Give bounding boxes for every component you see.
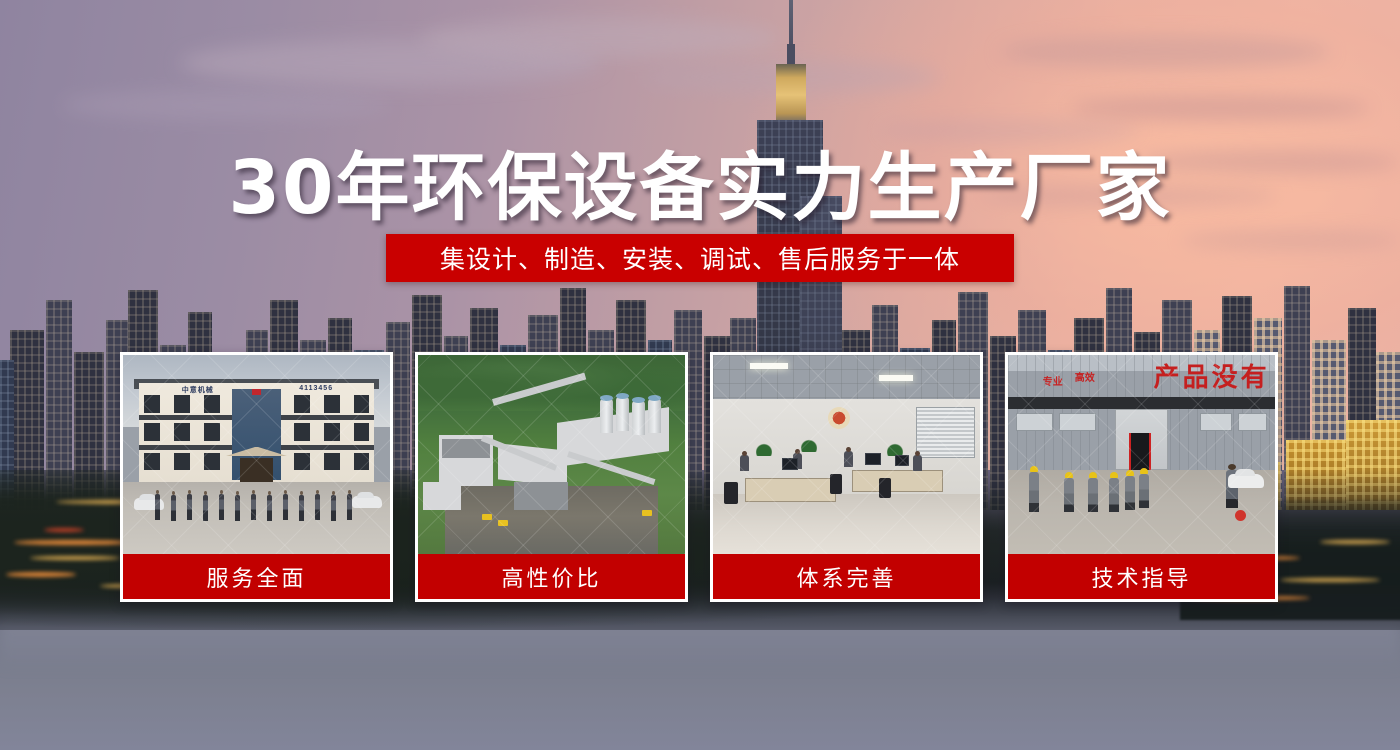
card-photo-office-interior xyxy=(713,355,980,554)
feature-card[interactable]: 产品没有 专业 高效 xyxy=(1005,352,1278,602)
card-photo-workshop-workers: 产品没有 专业 高效 xyxy=(1008,355,1275,554)
wall-emblem xyxy=(828,407,850,429)
card-caption: 体系完善 xyxy=(713,554,980,599)
red-helmet-icon xyxy=(1235,510,1246,521)
card-caption: 技术指导 xyxy=(1008,554,1275,599)
subtitle-text: 集设计、制造、安装、调试、售后服务于一体 xyxy=(440,240,960,276)
page-title: 30年环保设备实力生产厂家 xyxy=(0,128,1400,235)
wall-slogan-large: 产品没有 xyxy=(1154,357,1270,394)
window-blinds xyxy=(916,407,975,459)
building-phone-text: 4113456 xyxy=(299,385,333,392)
building-sign-text: 中意机械 xyxy=(182,385,214,395)
tower-crown xyxy=(776,64,806,126)
wall-slogan-small: 高效 xyxy=(1075,369,1095,384)
feature-card[interactable]: 体系完善 xyxy=(710,352,983,602)
promo-banner: 30年环保设备实力生产厂家 集设计、制造、安装、调试、售后服务于一体 中意机械 xyxy=(0,0,1400,750)
feature-card[interactable]: 中意机械 4113456 服务全面 xyxy=(120,352,393,602)
subtitle-banner: 集设计、制造、安装、调试、售后服务于一体 xyxy=(386,234,1014,282)
card-caption: 服务全面 xyxy=(123,554,390,599)
flag-icon xyxy=(252,389,261,395)
card-photo-office-building: 中意机械 4113456 xyxy=(123,355,390,554)
wall-slogan-small: 专业 xyxy=(1043,373,1063,388)
feature-card-row: 中意机械 4113456 服务全面 xyxy=(120,352,1278,602)
card-photo-aerial-plant xyxy=(418,355,685,554)
feature-card[interactable]: 高性价比 xyxy=(415,352,688,602)
card-caption: 高性价比 xyxy=(418,554,685,599)
